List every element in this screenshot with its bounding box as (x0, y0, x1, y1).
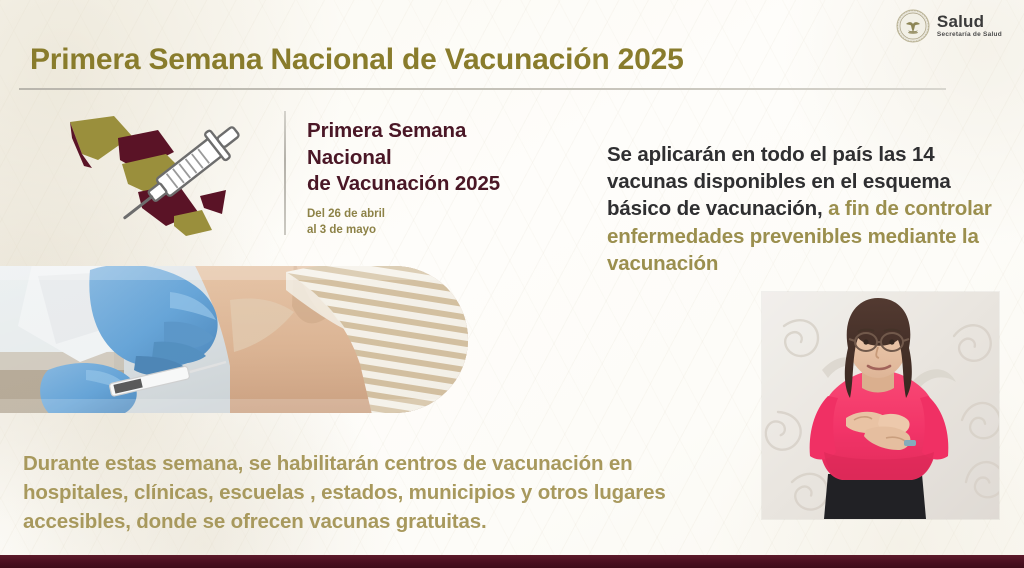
sign-language-interpreter-video[interactable] (762, 292, 999, 519)
vaccination-photo (0, 266, 468, 413)
presentation-slide: Primera Semana Nacional de Vacunación 20… (0, 0, 1024, 568)
body-copy: Durante estas semana, se habilitarán cen… (23, 449, 735, 536)
campaign-line-3: de Vacunación 2025 (307, 171, 500, 198)
campaign-line-2: Nacional (307, 145, 500, 172)
gov-logo-subtitle: Secretaría de Salud (937, 32, 1002, 39)
mexico-map-syringe-icon (62, 104, 270, 244)
footer-bar (0, 555, 1024, 568)
hero-statement: Se aplicarán en todo el país las 14 vacu… (607, 141, 1007, 278)
page-title: Primera Semana Nacional de Vacunación 20… (30, 43, 684, 77)
campaign-text: Primera Semana Nacional de Vacunación 20… (307, 104, 500, 239)
campaign-date-line-2: al 3 de mayo (307, 223, 500, 239)
campaign-date-line-1: Del 26 de abril (307, 207, 500, 223)
campaign-lockup: Primera Semana Nacional de Vacunación 20… (62, 104, 500, 244)
campaign-line-1: Primera Semana (307, 118, 500, 145)
mexican-eagle-seal-icon (896, 9, 930, 43)
interpreter-illustration (762, 292, 999, 519)
gov-logo-text: Salud Secretaría de Salud (937, 13, 1002, 39)
gov-logo: Salud Secretaría de Salud (896, 9, 1002, 43)
lockup-divider (284, 111, 286, 235)
header-divider (19, 88, 946, 90)
vaccination-photo-illustration (0, 266, 468, 413)
gov-logo-name: Salud (937, 13, 1002, 30)
